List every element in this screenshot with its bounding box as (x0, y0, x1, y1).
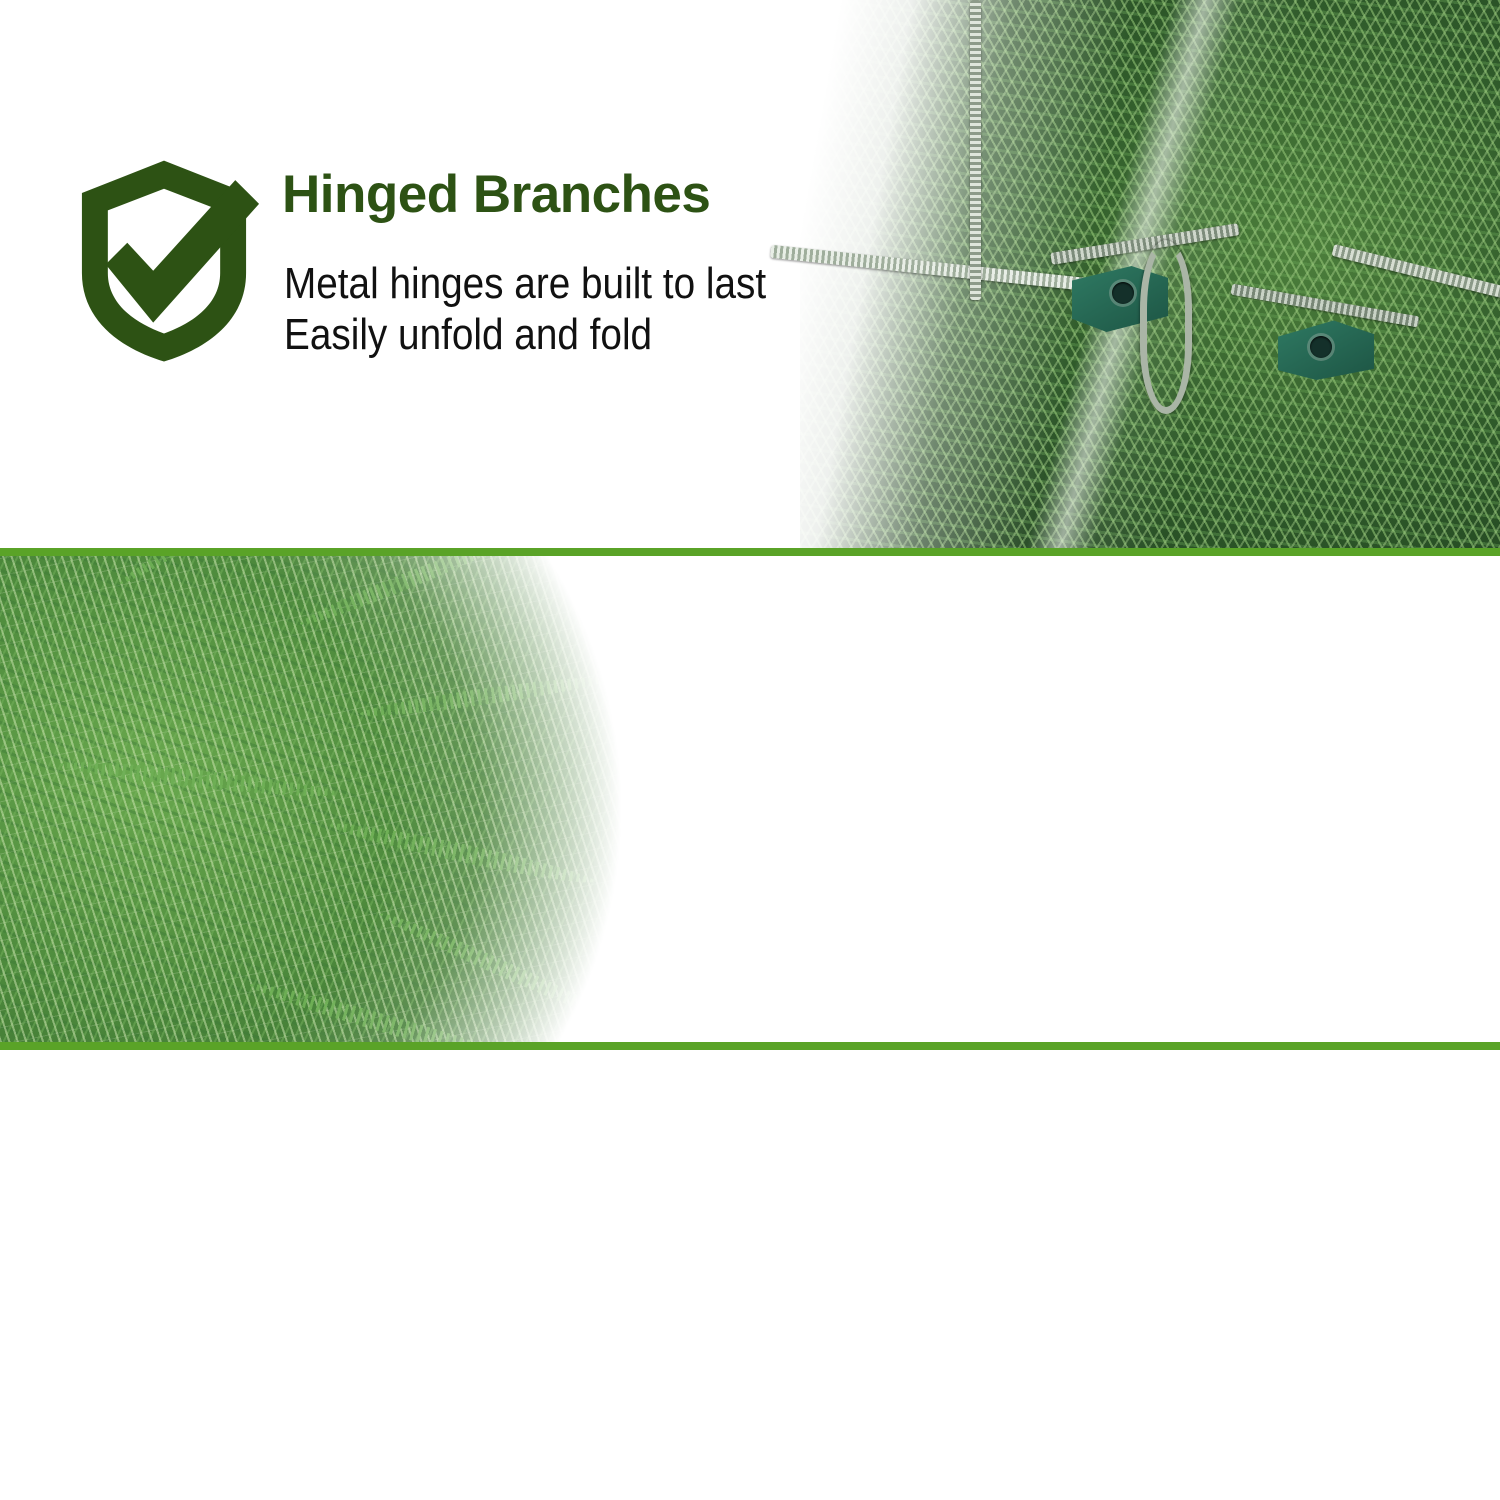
artificial-christmas-tree-branches-photo (0, 556, 672, 1042)
hinged-branches-title: Hinged Branches (282, 168, 710, 222)
panel-divider-bottom (0, 1042, 1500, 1050)
shield-check-icon (56, 152, 272, 368)
product-feature-infographic: Hinged Branches Metal hinges are built t… (0, 0, 1500, 1500)
hinged-branches-body: Metal hinges are built to last Easily un… (284, 258, 1006, 360)
panel-hinged-branches: Hinged Branches Metal hinges are built t… (0, 0, 1500, 548)
panel-environmental-safe-material: Environmental Safe Material Non-flammabl… (0, 556, 1500, 1042)
panel-divider-top (0, 548, 1500, 556)
panel-sturdy-metal-base: Sturdy Metal Base Metal stand can suppor… (0, 1050, 1500, 1500)
